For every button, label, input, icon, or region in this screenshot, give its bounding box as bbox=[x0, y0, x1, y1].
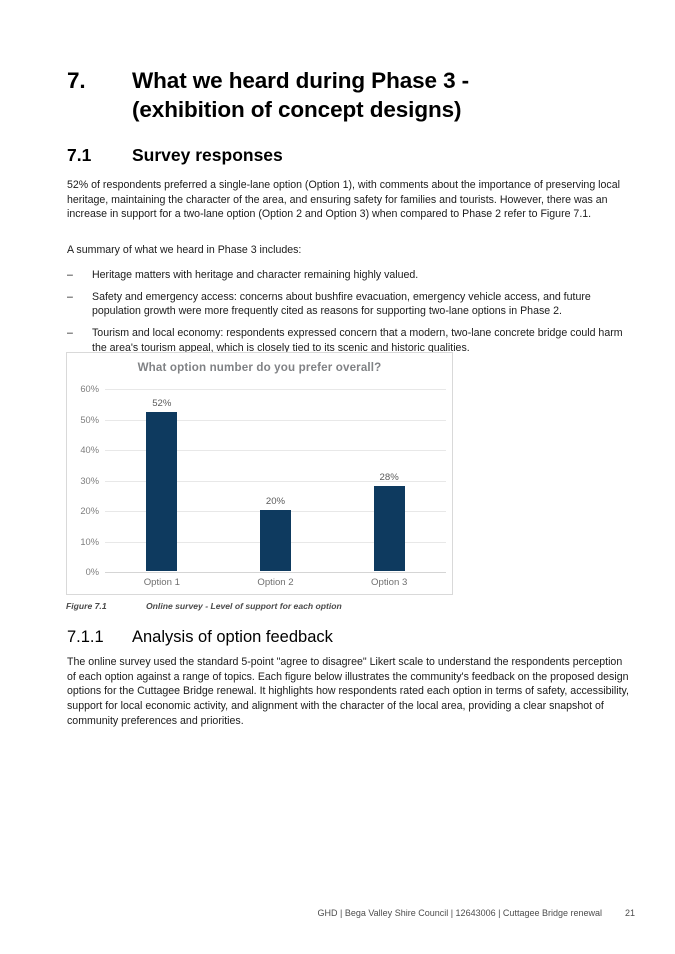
summary-bullet-list: – Heritage matters with heritage and cha… bbox=[67, 268, 635, 363]
y-axis-tick-label: 0% bbox=[59, 567, 99, 577]
list-item-text: Heritage matters with heritage and chara… bbox=[92, 268, 635, 283]
chart-bar bbox=[260, 510, 291, 571]
y-axis-tick-label: 20% bbox=[59, 506, 99, 516]
footer-page-number: 21 bbox=[625, 908, 635, 918]
paragraph-analysis: The online survey used the standard 5-po… bbox=[67, 655, 630, 729]
figure-caption: Figure 7.1Online survey - Level of suppo… bbox=[66, 601, 342, 611]
y-axis-tick-label: 40% bbox=[59, 445, 99, 455]
chart-gridline bbox=[105, 389, 446, 390]
figure-caption-text: Online survey - Level of support for eac… bbox=[146, 601, 342, 611]
heading1-number: 7. bbox=[67, 66, 132, 95]
list-item-text: Safety and emergency access: concerns ab… bbox=[92, 290, 635, 319]
chart-bar bbox=[374, 486, 405, 571]
footer-text: GHD | Bega Valley Shire Council | 126430… bbox=[317, 908, 602, 918]
list-item: – Heritage matters with heritage and cha… bbox=[67, 268, 635, 283]
chart-bar-value-label: 52% bbox=[132, 398, 192, 409]
heading3-text: Analysis of option feedback bbox=[132, 628, 333, 646]
page-footer: GHD | Bega Valley Shire Council | 126430… bbox=[0, 908, 675, 924]
dash-bullet-icon: – bbox=[67, 268, 92, 283]
paragraph-intro: 52% of respondents preferred a single-la… bbox=[67, 178, 632, 222]
chart-gridline bbox=[105, 572, 446, 573]
section-heading-7-1: 7.1Survey responses bbox=[67, 144, 283, 166]
heading2-text: Survey responses bbox=[132, 145, 283, 165]
heading2-number: 7.1 bbox=[67, 144, 132, 166]
x-axis-tick-label: Option 1 bbox=[122, 577, 202, 588]
y-axis-tick-label: 50% bbox=[59, 415, 99, 425]
chart-bar bbox=[146, 412, 177, 571]
x-axis-tick-label: Option 3 bbox=[349, 577, 429, 588]
chart-bar-value-label: 28% bbox=[359, 472, 419, 483]
chart-title: What option number do you prefer overall… bbox=[67, 361, 452, 374]
section-heading-7-1-1: 7.1.1Analysis of option feedback bbox=[67, 627, 333, 648]
y-axis-tick-label: 10% bbox=[59, 537, 99, 547]
heading3-number: 7.1.1 bbox=[67, 627, 132, 648]
figure-number: Figure 7.1 bbox=[66, 601, 146, 611]
page-title: 7.What we heard during Phase 3 - (exhibi… bbox=[67, 66, 627, 124]
document-page: 7.What we heard during Phase 3 - (exhibi… bbox=[0, 0, 675, 954]
chart-plot-area: 60%50%40%30%20%10%0%52%Option 120%Option… bbox=[105, 389, 446, 572]
heading1-text: What we heard during Phase 3 - (exhibiti… bbox=[132, 66, 552, 124]
list-item: – Safety and emergency access: concerns … bbox=[67, 290, 635, 319]
bar-chart-option-preference: What option number do you prefer overall… bbox=[66, 352, 453, 595]
y-axis-tick-label: 60% bbox=[59, 384, 99, 394]
dash-bullet-icon: – bbox=[67, 290, 92, 319]
y-axis-tick-label: 30% bbox=[59, 476, 99, 486]
paragraph-summary-lead: A summary of what we heard in Phase 3 in… bbox=[67, 243, 632, 258]
chart-bar-value-label: 20% bbox=[246, 496, 306, 507]
x-axis-tick-label: Option 2 bbox=[236, 577, 316, 588]
